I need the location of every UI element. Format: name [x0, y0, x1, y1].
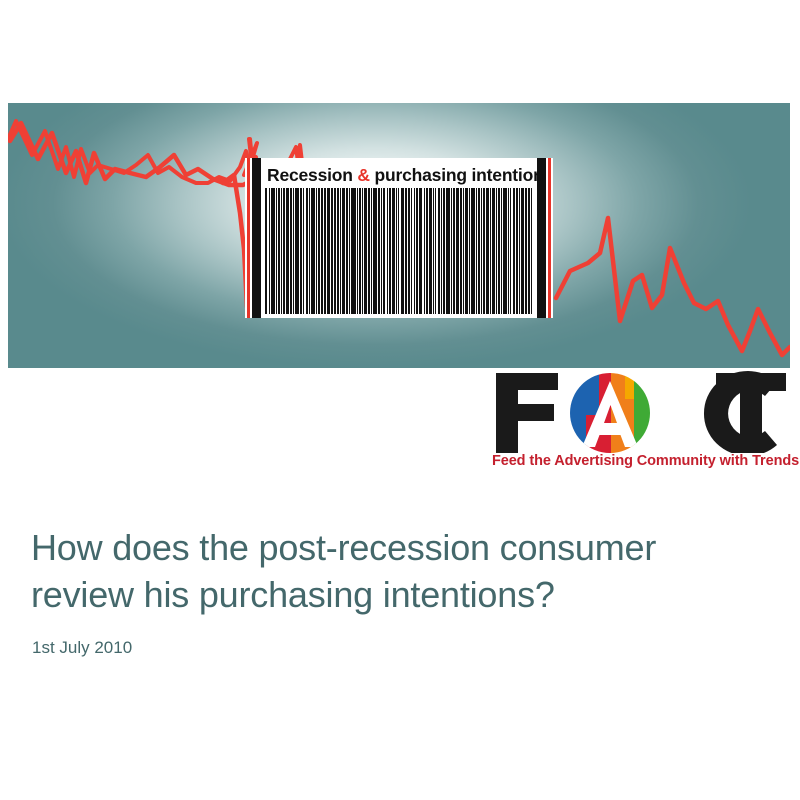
barcode-bar	[453, 188, 454, 314]
barcode-title-prefix: Recession	[267, 165, 357, 185]
barcode-bar	[513, 188, 515, 314]
barcode-bar	[481, 188, 482, 314]
barcode-bar	[486, 188, 489, 314]
barcode-bar	[443, 188, 445, 314]
barcode-bar	[510, 188, 511, 314]
barcode-bar	[342, 188, 345, 314]
barcode-bar	[401, 188, 405, 314]
barcode-bar	[465, 188, 467, 314]
barcode-bar	[283, 188, 285, 314]
barcode-bar	[383, 188, 385, 314]
barcode-bar	[516, 188, 518, 314]
barcode-bar	[271, 188, 275, 314]
barcode-bar	[426, 188, 427, 314]
barcode-bar	[269, 188, 270, 314]
barcode-bar	[435, 188, 436, 314]
barcode-title-ampersand: &	[357, 165, 369, 185]
barcode-bar	[446, 188, 450, 314]
barcode-bar	[381, 188, 382, 314]
barcode-red-rule-left	[247, 158, 250, 318]
barcode-bar	[359, 188, 361, 314]
barcode-bar	[416, 188, 417, 314]
barcode-bar	[316, 188, 317, 314]
barcode-bar	[346, 188, 348, 314]
barcode-bar	[460, 188, 462, 314]
page-date: 1st July 2010	[32, 638, 761, 658]
barcode-bar	[265, 188, 267, 314]
barcode-bar	[531, 188, 532, 314]
barcode-bar	[398, 188, 399, 314]
barcode-guard-bar-left	[252, 158, 261, 318]
barcode-bar	[508, 188, 509, 314]
barcode-bar	[396, 188, 397, 314]
barcode-bar	[340, 188, 341, 314]
barcode-bar	[525, 188, 526, 314]
barcode-bar	[419, 188, 423, 314]
barcode-bar	[528, 188, 530, 314]
title-block: How does the post-recession consumer rev…	[31, 524, 761, 658]
barcode-bar	[519, 188, 520, 314]
barcode-title: Recession & purchasing intention	[267, 162, 533, 188]
barcode-bar	[490, 188, 491, 314]
barcode-bar	[337, 188, 338, 314]
barcode-bar	[414, 188, 416, 314]
barcode-bar	[321, 188, 322, 314]
barcode-bar	[405, 188, 406, 314]
hero-banner: Recession & purchasing intention	[8, 103, 790, 368]
barcode-bar	[327, 188, 331, 314]
barcode-bar	[300, 188, 302, 314]
barcode-bar	[281, 188, 282, 314]
barcode-bar	[303, 188, 304, 314]
barcode-bar	[492, 188, 494, 314]
barcode-bar	[293, 188, 294, 314]
barcode-red-rule-right	[548, 158, 551, 318]
barcode-bar	[349, 188, 350, 314]
barcode-bar	[503, 188, 507, 314]
logo-letter-f	[496, 373, 558, 453]
barcode-bar	[451, 188, 452, 314]
barcode-bar	[373, 188, 377, 314]
fact-logo-mark	[492, 369, 790, 453]
barcode-bar	[324, 188, 326, 314]
barcode-bar	[276, 188, 277, 314]
barcode-bar	[286, 188, 289, 314]
barcode-bar	[389, 188, 391, 314]
barcode-bars	[265, 188, 533, 314]
barcode-bar	[408, 188, 410, 314]
fact-logo-tagline: Feed the Advertising Community with Tren…	[492, 453, 790, 469]
barcode-bar	[318, 188, 320, 314]
barcode-bar	[463, 188, 464, 314]
barcode-bar	[498, 188, 500, 314]
barcode-bar	[411, 188, 412, 314]
barcode-bar	[496, 188, 497, 314]
barcode-bar	[371, 188, 372, 314]
barcode-bar	[378, 188, 380, 314]
barcode-bar	[334, 188, 336, 314]
barcode-bar	[278, 188, 280, 314]
barcode-panel: Recession & purchasing intention	[245, 158, 553, 318]
barcode-bar	[295, 188, 299, 314]
barcode-bar	[424, 188, 426, 314]
barcode-bar	[362, 188, 363, 314]
barcode-bar	[392, 188, 395, 314]
barcode-bar	[469, 188, 470, 314]
barcode-bar	[387, 188, 388, 314]
barcode-bar	[456, 188, 459, 314]
barcode-bar	[364, 188, 367, 314]
barcode-bar	[483, 188, 484, 314]
barcode-bar	[441, 188, 442, 314]
barcode-bar	[429, 188, 432, 314]
barcode-bar	[357, 188, 358, 314]
barcode-bar	[368, 188, 369, 314]
barcode-bar	[309, 188, 310, 314]
barcode-bar	[433, 188, 434, 314]
barcode-bar	[478, 188, 480, 314]
page-title: How does the post-recession consumer rev…	[31, 524, 761, 618]
barcode-bar	[521, 188, 524, 314]
logo-letter-a-colorwheel	[570, 373, 650, 453]
barcode-bar	[471, 188, 475, 314]
barcode-bar	[351, 188, 355, 314]
barcode-bar	[290, 188, 291, 314]
barcode-bar	[476, 188, 477, 314]
barcode-bar	[501, 188, 502, 314]
fact-logo: Feed the Advertising Community with Tren…	[492, 369, 790, 479]
barcode-bar	[311, 188, 315, 314]
barcode-bar	[438, 188, 440, 314]
barcode-title-suffix: purchasing intention	[370, 165, 544, 185]
barcode-bar	[306, 188, 308, 314]
barcode-bar	[331, 188, 332, 314]
